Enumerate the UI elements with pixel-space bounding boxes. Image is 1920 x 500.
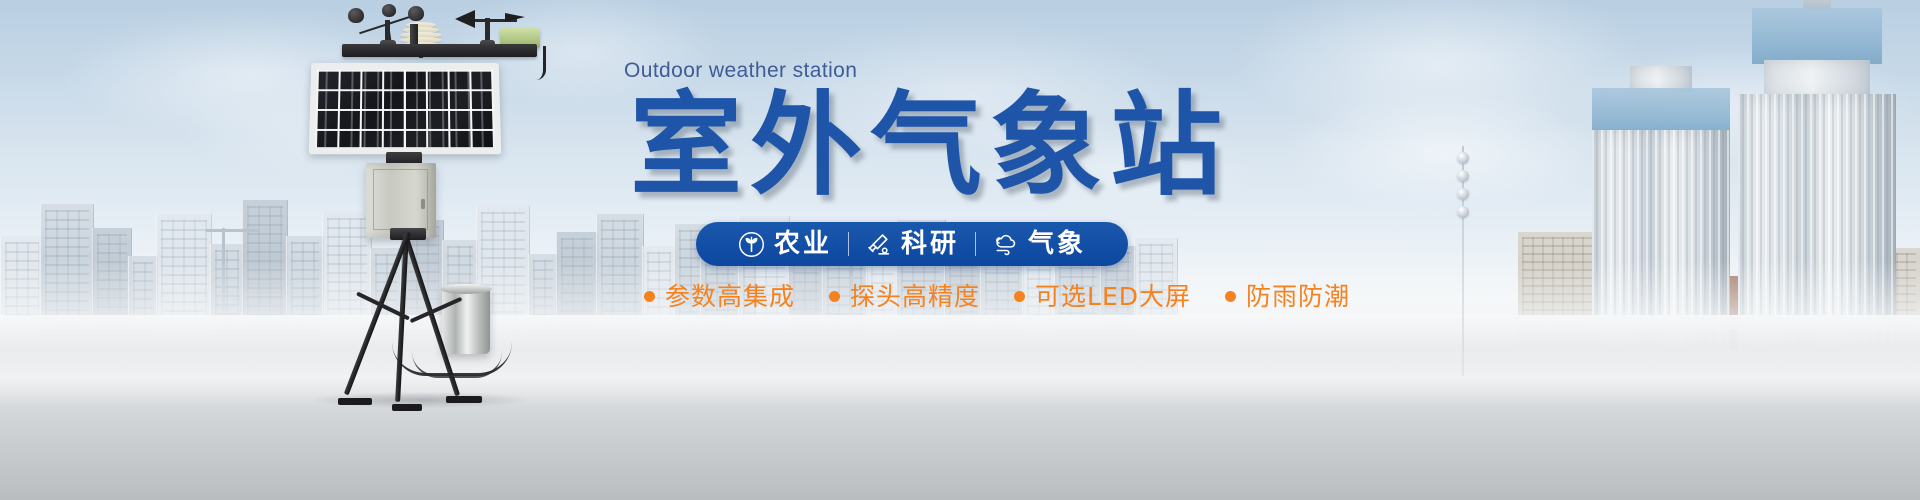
feature-list: 参数高集成 探头高精度 可选LED大屏 防雨防潮 bbox=[644, 284, 1324, 309]
outdoor-weather-station-photo bbox=[300, 0, 600, 410]
wind-cloud-icon bbox=[992, 231, 1019, 258]
cable-icon bbox=[412, 352, 502, 378]
bullet-dot-icon bbox=[829, 291, 840, 302]
bullet-dot-icon bbox=[1225, 291, 1236, 302]
control-box-icon bbox=[366, 163, 436, 238]
eyebrow-text: Outdoor weather station bbox=[624, 60, 1324, 81]
feature-item: 参数高集成 bbox=[644, 284, 795, 309]
feature-item: 防雨防潮 bbox=[1225, 284, 1350, 309]
page-title: 室外气象站 bbox=[630, 90, 1324, 202]
product-banner: Outdoor weather station 室外气象站 农业 bbox=[0, 0, 1920, 500]
badge-item-meteorology[interactable]: 气象 bbox=[976, 231, 1102, 258]
feature-label: 可选LED大屏 bbox=[1035, 284, 1191, 309]
badge-item-research[interactable]: 科研 bbox=[849, 231, 975, 258]
feature-label: 防雨防潮 bbox=[1246, 284, 1350, 309]
badge-label: 科研 bbox=[901, 231, 959, 257]
application-badge: 农业 科研 bbox=[696, 222, 1128, 266]
badge-label: 气象 bbox=[1028, 231, 1086, 257]
badge-label: 农业 bbox=[774, 231, 832, 257]
cross-arm-icon bbox=[342, 44, 537, 57]
cable-icon bbox=[536, 46, 546, 80]
badge-item-agriculture[interactable]: 农业 bbox=[722, 231, 848, 258]
tripod-icon bbox=[320, 232, 500, 408]
bullet-dot-icon bbox=[1014, 291, 1025, 302]
feature-item: 可选LED大屏 bbox=[1014, 284, 1191, 309]
ground-sheen bbox=[0, 348, 1920, 408]
microscope-icon bbox=[865, 231, 892, 258]
solar-panel-icon bbox=[309, 63, 502, 154]
bullet-dot-icon bbox=[644, 291, 655, 302]
feature-label: 探头高精度 bbox=[850, 284, 980, 309]
sprout-icon bbox=[738, 231, 765, 258]
feature-label: 参数高集成 bbox=[665, 284, 795, 309]
cloud-icon bbox=[1280, 90, 1610, 200]
feature-item: 探头高精度 bbox=[829, 284, 980, 309]
banner-copy: Outdoor weather station 室外气象站 农业 bbox=[624, 60, 1324, 309]
lightning-rod-icon bbox=[1455, 146, 1471, 376]
